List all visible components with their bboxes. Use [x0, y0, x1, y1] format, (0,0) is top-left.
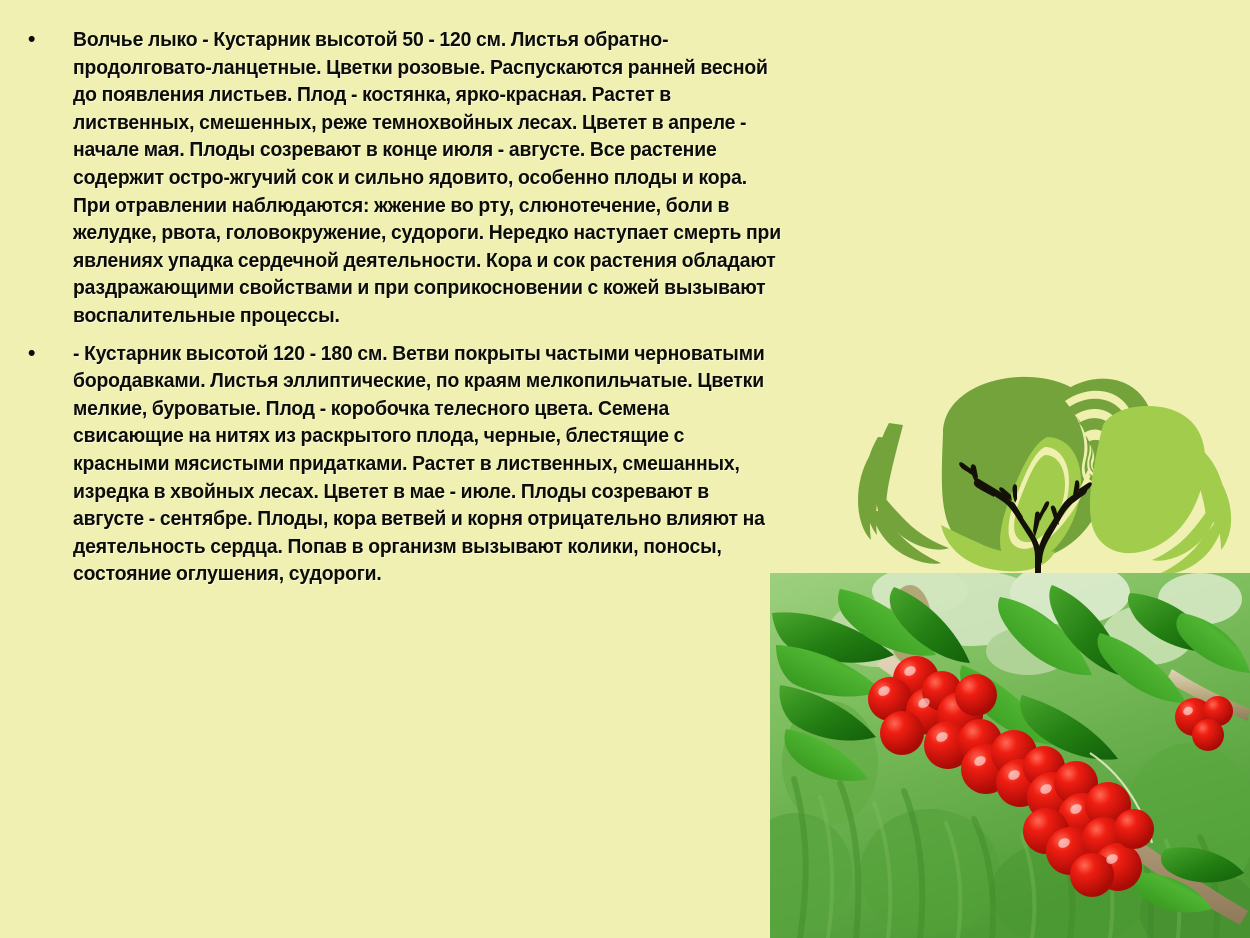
foliage-blob-right: [1090, 406, 1205, 553]
slide-text-content: • Волчье лыко - Кустарник высотой 50 - 1…: [0, 0, 800, 598]
foliage-fan-upper-right: [1059, 379, 1154, 498]
paragraph-beresklet: - Кустарник высотой 120 - 180 см. Ветви …: [73, 340, 782, 588]
bullet-marker-icon: •: [28, 340, 35, 368]
foliage-lobe-bottom-left: [941, 525, 1055, 571]
foliage-highlight-leaf: [1000, 437, 1081, 566]
foliage-swirl-lines: [1043, 471, 1089, 541]
daphne-mezereum-red-berries-photo: [770, 573, 1250, 938]
foliage-blob-main: [942, 377, 1110, 562]
bullet-item-volchye-lyko: • Волчье лыко - Кустарник высотой 50 - 1…: [0, 26, 800, 330]
bullet-marker-icon: •: [28, 26, 35, 54]
stylized-foliage-tree-graphic: [845, 345, 1250, 590]
paragraph-volchye-lyko: Волчье лыко - Кустарник высотой 50 - 120…: [73, 26, 782, 330]
bullet-item-beresklet: • - Кустарник высотой 120 - 180 см. Ветв…: [0, 340, 800, 588]
frond-left: [858, 423, 949, 564]
slide-canvas: • Волчье лыко - Кустарник высотой 50 - 1…: [0, 0, 1250, 938]
frond-right: [1152, 441, 1231, 574]
bare-branch-silhouette: [959, 462, 1092, 585]
